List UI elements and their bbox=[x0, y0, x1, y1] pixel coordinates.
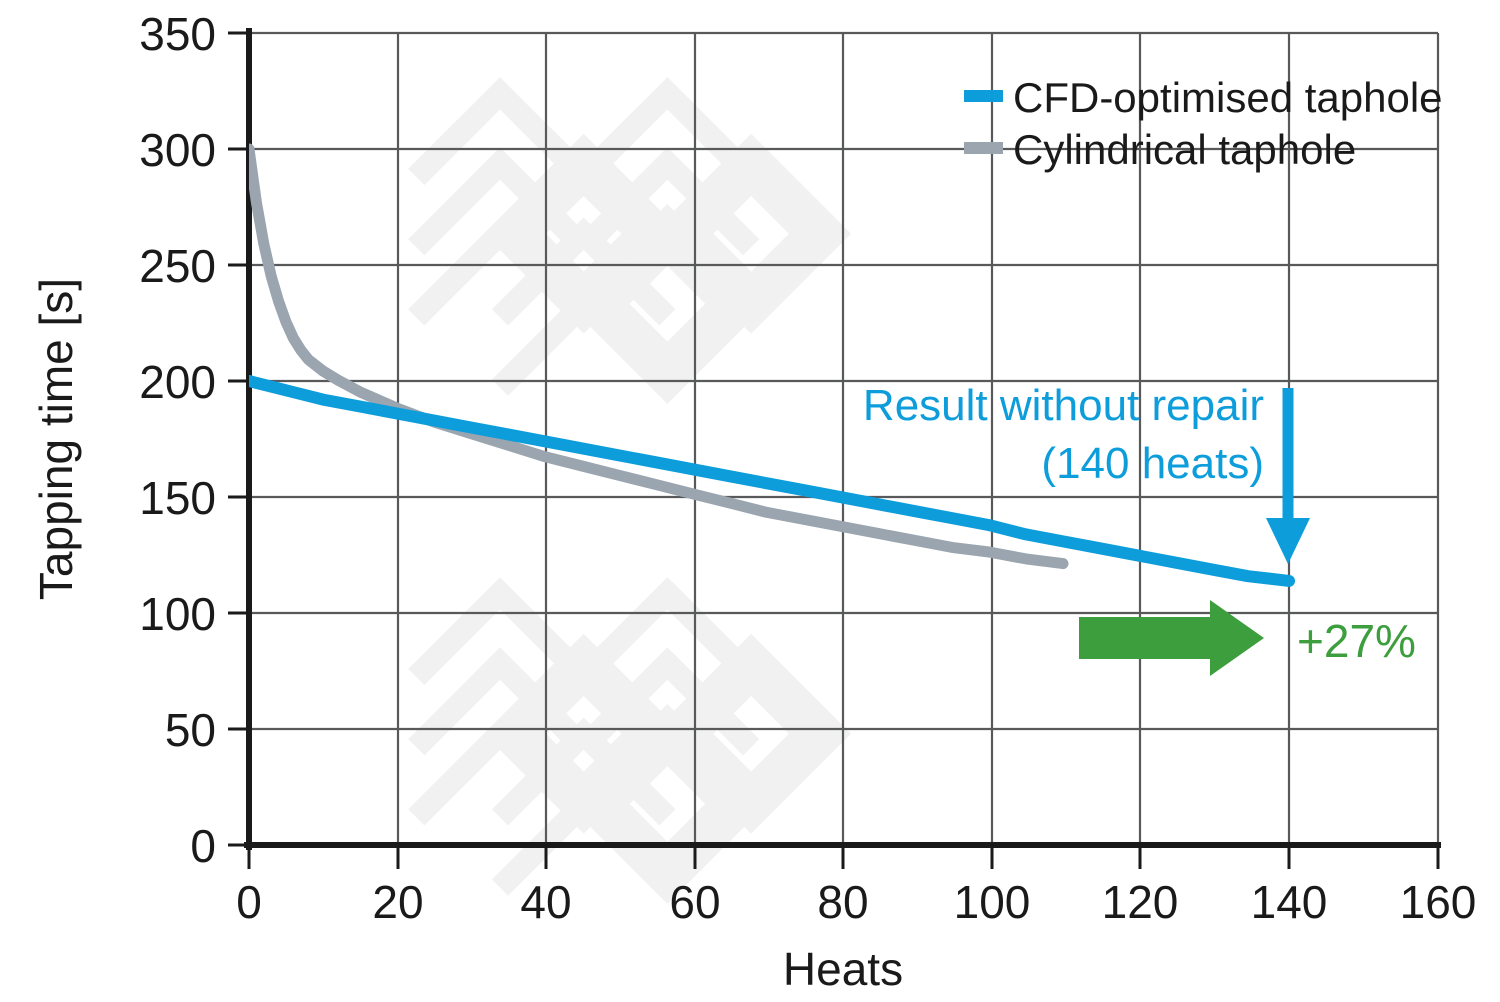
x-tick-label: 0 bbox=[236, 876, 262, 928]
x-tick-label: 100 bbox=[954, 876, 1031, 928]
y-tick-label: 300 bbox=[139, 124, 216, 176]
right-arrow-icon bbox=[1079, 600, 1264, 676]
x-tick-label: 40 bbox=[520, 876, 571, 928]
annotation-line-2: (140 heats) bbox=[1041, 439, 1264, 488]
y-tick-marks bbox=[228, 33, 249, 845]
annotation-line-1: Result without repair bbox=[863, 381, 1264, 430]
down-arrow-icon bbox=[1266, 388, 1310, 564]
y-tick-label: 200 bbox=[139, 356, 216, 408]
y-tick-label: 50 bbox=[165, 704, 216, 756]
x-tick-label: 140 bbox=[1251, 876, 1328, 928]
y-tick-labels: 350 300 250 200 150 100 50 0 bbox=[139, 8, 216, 872]
legend-label-cylindrical-taphole: Cylindrical taphole bbox=[1013, 126, 1356, 173]
watermark-top bbox=[416, 93, 835, 387]
x-tick-label: 120 bbox=[1102, 876, 1179, 928]
y-tick-label: 0 bbox=[190, 820, 216, 872]
y-tick-label: 350 bbox=[139, 8, 216, 60]
legend-label-cfd-optimised-taphole: CFD-optimised taphole bbox=[1013, 74, 1443, 121]
x-tick-label: 60 bbox=[669, 876, 720, 928]
annotation-improvement: +27% bbox=[1079, 600, 1416, 676]
y-tick-label: 150 bbox=[139, 472, 216, 524]
y-axis-title: Tapping time [s] bbox=[30, 278, 82, 600]
y-tick-label: 100 bbox=[139, 588, 216, 640]
improvement-label: +27% bbox=[1297, 615, 1416, 667]
chart-figure: 350 300 250 200 150 100 50 0 0 20 40 60 … bbox=[0, 0, 1500, 1002]
x-axis-title: Heats bbox=[783, 943, 903, 995]
x-tick-label: 20 bbox=[372, 876, 423, 928]
x-tick-labels: 0 20 40 60 80 100 120 140 160 bbox=[236, 876, 1476, 928]
y-tick-label: 250 bbox=[139, 240, 216, 292]
chart-canvas: 350 300 250 200 150 100 50 0 0 20 40 60 … bbox=[0, 0, 1500, 1002]
x-tick-label: 160 bbox=[1400, 876, 1477, 928]
watermark-group bbox=[416, 93, 835, 887]
x-tick-marks bbox=[249, 845, 1438, 869]
x-tick-label: 80 bbox=[817, 876, 868, 928]
legend: CFD-optimised taphole Cylindrical taphol… bbox=[964, 74, 1443, 173]
annotation-result-without-repair: Result without repair (140 heats) bbox=[863, 381, 1310, 564]
